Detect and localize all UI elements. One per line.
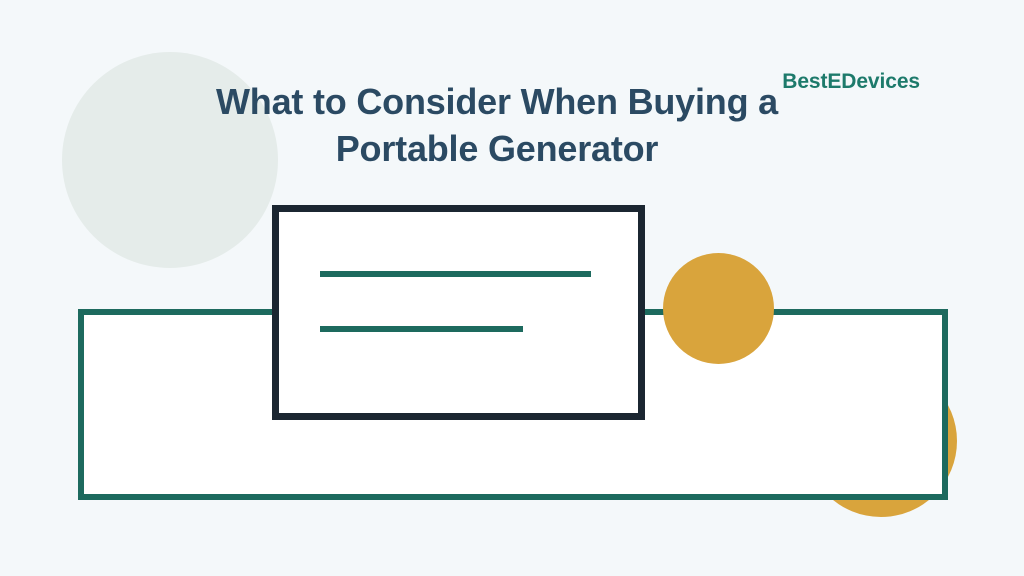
teal-rule-short: [320, 326, 523, 332]
teal-rule-long: [320, 271, 591, 277]
brand-logo-text: BestEDevices: [782, 69, 920, 95]
dark-outlined-card: [272, 205, 645, 420]
gold-circle-front-decoration: [663, 253, 774, 364]
graphic-canvas: What to Consider When Buying a Portable …: [0, 0, 1024, 576]
